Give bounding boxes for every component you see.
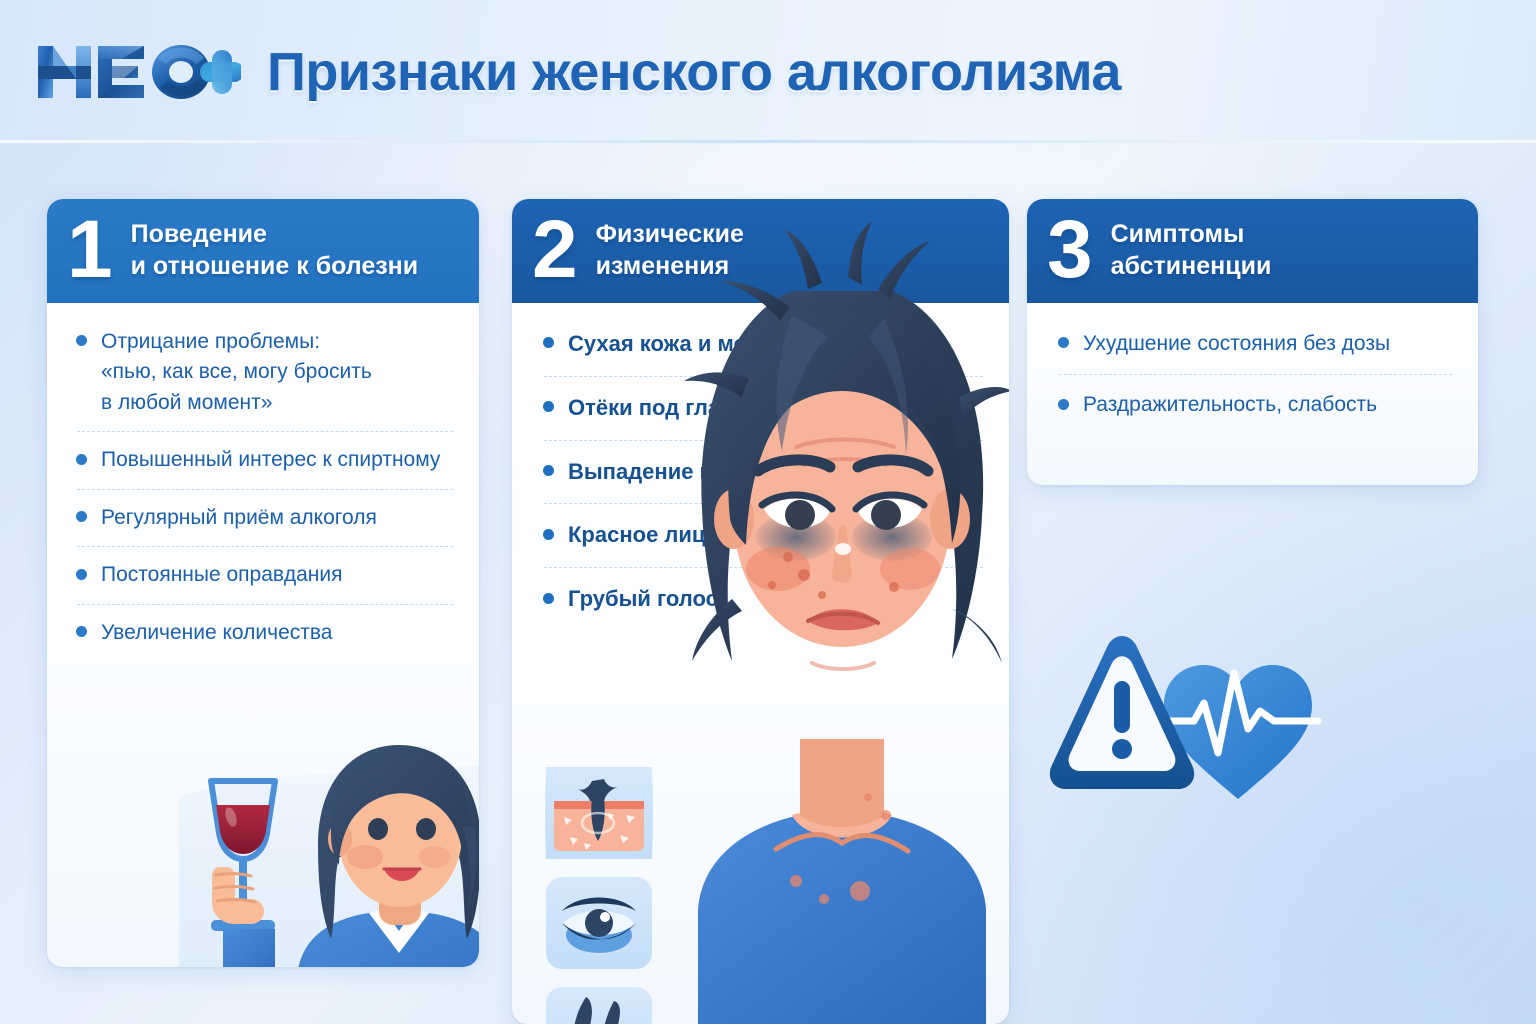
card-3-bullet-list: Ухудшение состояния без дозы Раздражител…: [1027, 303, 1478, 431]
neo-plus-logo: [36, 38, 241, 106]
list-item-text: Ухудшение состояния без дозы: [1083, 329, 1454, 359]
list-item[interactable]: Раздражительность, слабость: [1053, 390, 1454, 420]
cards-board: 1 Поведение и отношение к болезни Отрица…: [0, 143, 1536, 1024]
woman-with-wine-glass-illustration: [179, 717, 479, 967]
bullet-dot-icon: [1058, 399, 1069, 410]
skin-pore-icon: [545, 767, 653, 859]
card-3-number: 3: [1047, 216, 1093, 283]
card-3-header: 3 Симптомы абстиненции: [1027, 199, 1478, 303]
list-divider: [1059, 374, 1452, 375]
card-3-title-line2: абстиненции: [1111, 250, 1272, 282]
card-physical-changes[interactable]: 2 Физические изменения Сухая кожа и морщ…: [512, 199, 1009, 1024]
card-behavior[interactable]: 1 Поведение и отношение к болезни Отрица…: [47, 199, 479, 967]
warning-triangle-icon: [1050, 636, 1194, 789]
card-3-title: Симптомы абстиненции: [1111, 218, 1272, 282]
warning-triangle-and-heartbeat-icon: [1048, 629, 1330, 807]
list-item-text: Раздражительность, слабость: [1083, 390, 1454, 420]
bullet-dot-icon: [1058, 337, 1069, 348]
eye-bag-icon: [546, 877, 652, 969]
hair-loss-icon: [546, 987, 652, 1024]
page-header: Признаки женского алкоголизма: [0, 0, 1536, 143]
skin-eye-hair-icon-strip: [540, 761, 658, 1024]
list-item[interactable]: Ухудшение состояния без дозы: [1053, 329, 1454, 359]
card-1-artwork: [47, 199, 479, 967]
list-item-line: Ухудшение состояния без дозы: [1083, 329, 1454, 359]
tired-woman-illustration: [672, 219, 1009, 1024]
heartbeat-icon: [1160, 665, 1318, 799]
list-item-line: Раздражительность, слабость: [1083, 390, 1454, 420]
card-2-artwork: [512, 199, 1009, 1024]
page-title: Признаки женского алкоголизма: [267, 45, 1121, 99]
card-3-title-line1: Симптомы: [1111, 218, 1272, 250]
card-withdrawal-symptoms[interactable]: 3 Симптомы абстиненции Ухудшение состоян…: [1027, 199, 1478, 485]
